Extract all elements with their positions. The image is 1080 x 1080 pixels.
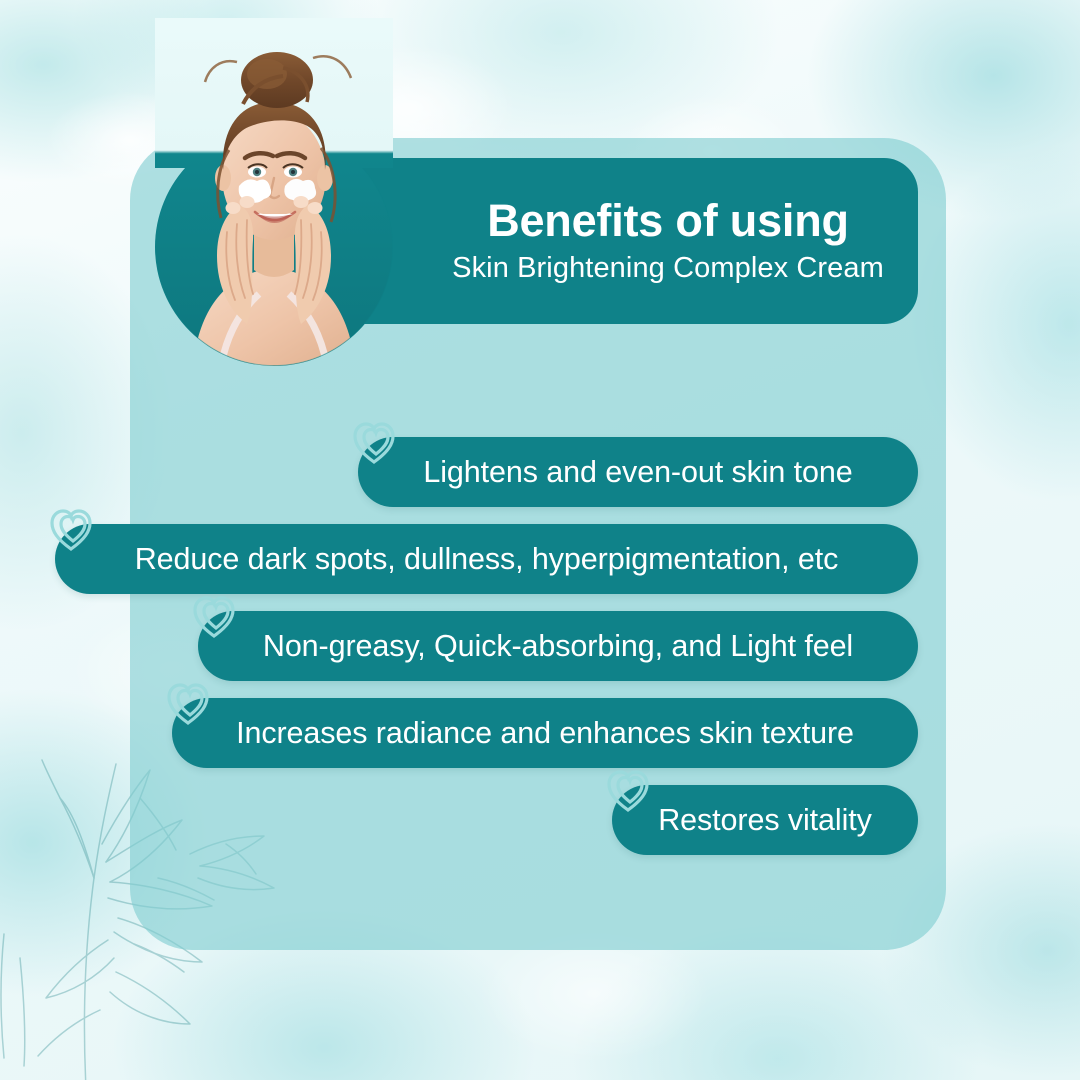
benefit-label: Restores vitality — [612, 803, 918, 838]
infographic-canvas: Benefits of using Skin Brightening Compl… — [0, 0, 1080, 1080]
benefit-pill-5[interactable]: Restores vitality — [612, 785, 918, 855]
benefits-list: Lightens and even-out skin tone Reduce d… — [0, 0, 1080, 1080]
benefit-label: Lightens and even-out skin tone — [358, 455, 918, 490]
benefit-pill-1[interactable]: Lightens and even-out skin tone — [358, 437, 918, 507]
benefit-label: Non-greasy, Quick-absorbing, and Light f… — [198, 629, 918, 664]
benefit-label: Increases radiance and enhances skin tex… — [172, 716, 918, 751]
benefit-label: Reduce dark spots, dullness, hyperpigmen… — [55, 542, 918, 577]
benefit-pill-4[interactable]: Increases radiance and enhances skin tex… — [172, 698, 918, 768]
benefit-pill-3[interactable]: Non-greasy, Quick-absorbing, and Light f… — [198, 611, 918, 681]
benefit-pill-2[interactable]: Reduce dark spots, dullness, hyperpigmen… — [55, 524, 918, 594]
